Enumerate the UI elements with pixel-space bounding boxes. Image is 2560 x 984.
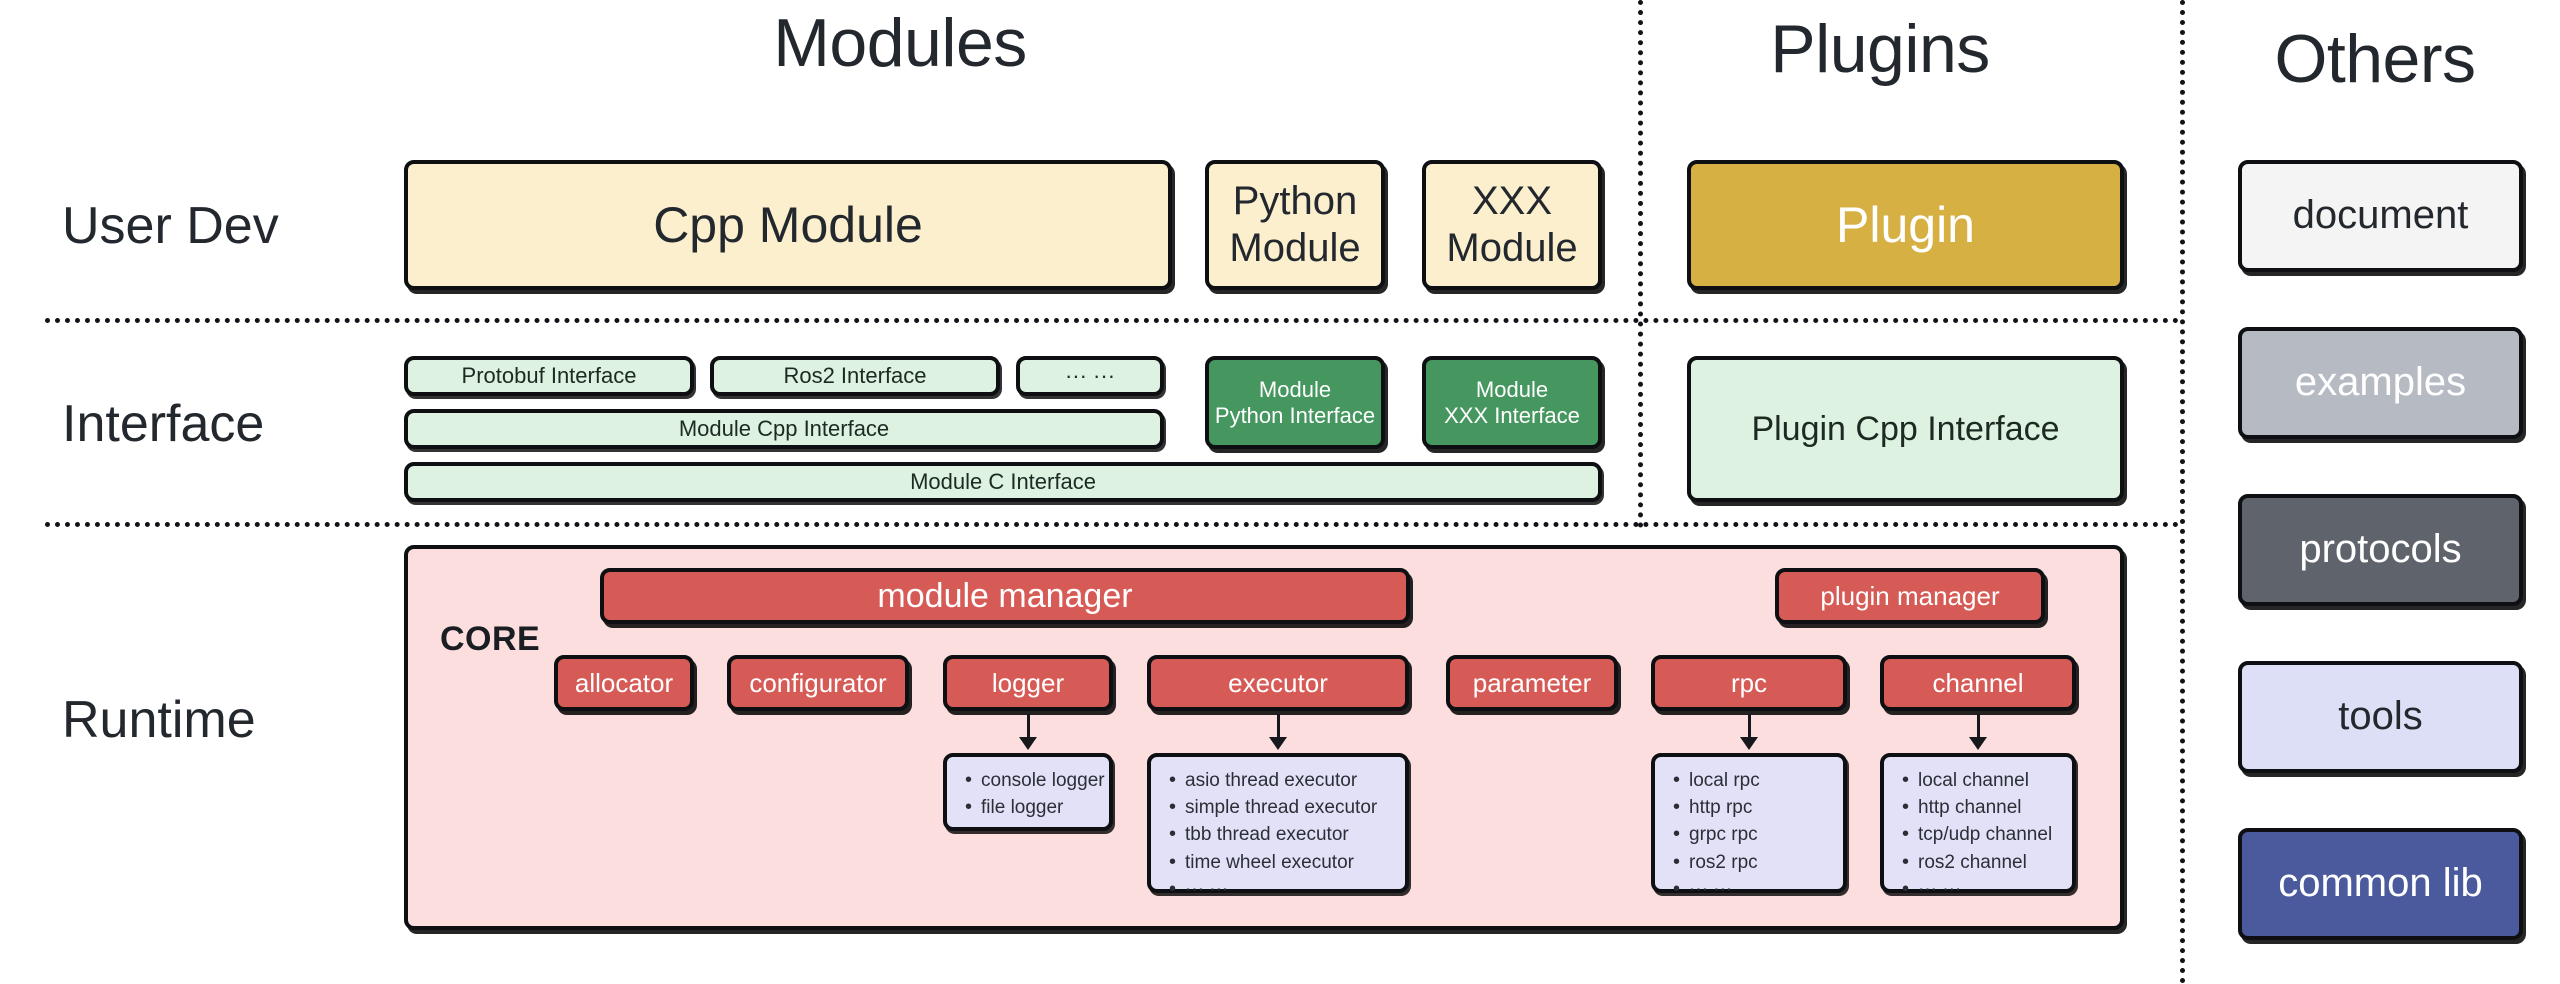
- protobuf-interface-box[interactable]: Protobuf Interface: [404, 356, 694, 396]
- python-module-label-line2: Module: [1229, 225, 1360, 272]
- list-item: local rpc: [1689, 769, 1829, 792]
- other-interface-box[interactable]: ··· ···: [1016, 356, 1164, 396]
- ros2-interface-box[interactable]: Ros2 Interface: [710, 356, 1000, 396]
- others-item-protocols[interactable]: protocols: [2238, 494, 2523, 606]
- list-item: simple thread executor: [1185, 796, 1391, 819]
- divider-modules-plugins: [1638, 0, 1643, 528]
- channel-detail-box: local channel http channel tcp/udp chann…: [1880, 753, 2076, 893]
- plugin-box[interactable]: Plugin: [1687, 160, 2124, 290]
- column-title-plugins: Plugins: [1680, 10, 2080, 88]
- divider-userdev-interface: [45, 318, 2180, 323]
- logger-arrow-icon: [1015, 714, 1041, 750]
- module-python-interface-box[interactable]: Module Python Interface: [1205, 356, 1385, 449]
- others-item-common-lib[interactable]: common lib: [2238, 828, 2523, 940]
- module-c-interface-box[interactable]: Module C Interface: [404, 462, 1602, 502]
- channel-arrow-icon: [1965, 714, 1991, 750]
- core-label: CORE: [440, 620, 540, 659]
- column-title-others: Others: [2210, 20, 2540, 98]
- xxx-module-label-line1: XXX: [1472, 178, 1552, 225]
- logger-detail-box: console logger file logger: [943, 753, 1113, 831]
- divider-interface-runtime: [45, 522, 2180, 527]
- row-label-runtime: Runtime: [62, 690, 256, 750]
- logger-detail-list: console logger file logger: [961, 769, 1095, 819]
- list-item: local channel: [1918, 769, 2058, 792]
- module-xxx-interface-line1: Module: [1476, 377, 1548, 403]
- list-item: tcp/udp channel: [1918, 823, 2058, 846]
- component-channel[interactable]: channel: [1880, 655, 2076, 711]
- executor-detail-box: asio thread executor simple thread execu…: [1147, 753, 1409, 893]
- component-parameter[interactable]: parameter: [1446, 655, 1618, 711]
- list-item: tbb thread executor: [1185, 823, 1391, 846]
- others-item-tools[interactable]: tools: [2238, 661, 2523, 773]
- list-item: http rpc: [1689, 796, 1829, 819]
- list-item: ros2 channel: [1918, 851, 2058, 874]
- executor-arrow-icon: [1265, 714, 1291, 750]
- list-item: ··· ···: [1689, 878, 1829, 901]
- others-item-examples[interactable]: examples: [2238, 327, 2523, 439]
- list-item: http channel: [1918, 796, 2058, 819]
- plugin-cpp-interface-box[interactable]: Plugin Cpp Interface: [1687, 356, 2124, 502]
- divider-plugins-others: [2180, 0, 2185, 984]
- module-xxx-interface-box[interactable]: Module XXX Interface: [1422, 356, 1602, 449]
- component-allocator[interactable]: allocator: [554, 655, 694, 711]
- module-cpp-interface-box[interactable]: Module Cpp Interface: [404, 409, 1164, 449]
- rpc-arrow-icon: [1736, 714, 1762, 750]
- column-title-modules: Modules: [700, 4, 1100, 82]
- module-xxx-interface-line2: XXX Interface: [1444, 403, 1580, 429]
- plugin-manager-box[interactable]: plugin manager: [1775, 568, 2045, 624]
- architecture-diagram: Modules Plugins Others User Dev Interfac…: [0, 0, 2560, 984]
- list-item: ··· ···: [1918, 878, 2058, 901]
- list-item: ros2 rpc: [1689, 851, 1829, 874]
- module-python-interface-line1: Module: [1259, 377, 1331, 403]
- list-item: ··· ···: [1185, 878, 1391, 901]
- cpp-module-box[interactable]: Cpp Module: [404, 160, 1172, 290]
- component-executor[interactable]: executor: [1147, 655, 1409, 711]
- list-item: asio thread executor: [1185, 769, 1391, 792]
- component-rpc[interactable]: rpc: [1651, 655, 1847, 711]
- rpc-detail-box: local rpc http rpc grpc rpc ros2 rpc ···…: [1651, 753, 1847, 893]
- component-configurator[interactable]: configurator: [727, 655, 909, 711]
- rpc-detail-list: local rpc http rpc grpc rpc ros2 rpc ···…: [1669, 769, 1829, 901]
- module-python-interface-line2: Python Interface: [1215, 403, 1375, 429]
- others-item-document[interactable]: document: [2238, 160, 2523, 272]
- list-item: time wheel executor: [1185, 851, 1391, 874]
- channel-detail-list: local channel http channel tcp/udp chann…: [1898, 769, 2058, 901]
- xxx-module-label-line2: Module: [1446, 225, 1577, 272]
- list-item: console logger: [981, 769, 1095, 792]
- module-manager-box[interactable]: module manager: [600, 568, 1410, 624]
- executor-detail-list: asio thread executor simple thread execu…: [1165, 769, 1391, 901]
- xxx-module-box[interactable]: XXX Module: [1422, 160, 1602, 290]
- row-label-user-dev: User Dev: [62, 196, 279, 256]
- component-logger[interactable]: logger: [943, 655, 1113, 711]
- list-item: file logger: [981, 796, 1095, 819]
- row-label-interface: Interface: [62, 394, 264, 454]
- python-module-box[interactable]: Python Module: [1205, 160, 1385, 290]
- list-item: grpc rpc: [1689, 823, 1829, 846]
- python-module-label-line1: Python: [1233, 178, 1358, 225]
